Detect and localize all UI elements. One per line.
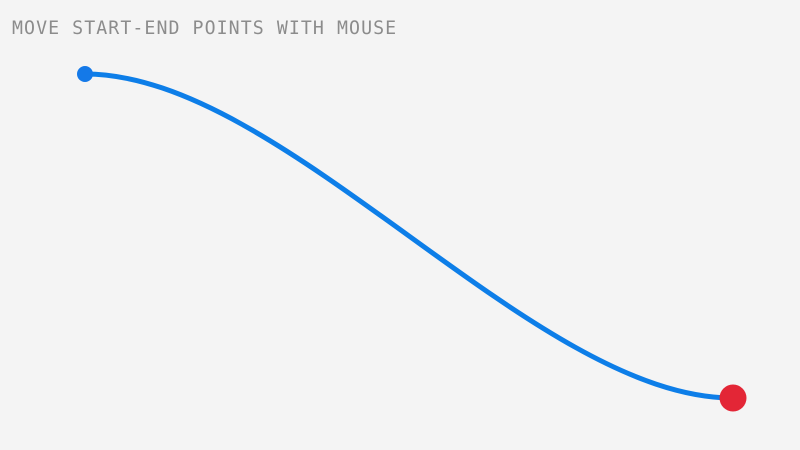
- end-handle[interactable]: [720, 385, 747, 412]
- page-title: MOVE START-END POINTS WITH MOUSE: [12, 17, 397, 39]
- bezier-canvas[interactable]: [0, 0, 800, 450]
- start-handle[interactable]: [77, 66, 93, 82]
- canvas-background: [0, 0, 800, 450]
- app-root: MOVE START-END POINTS WITH MOUSE: [0, 0, 800, 450]
